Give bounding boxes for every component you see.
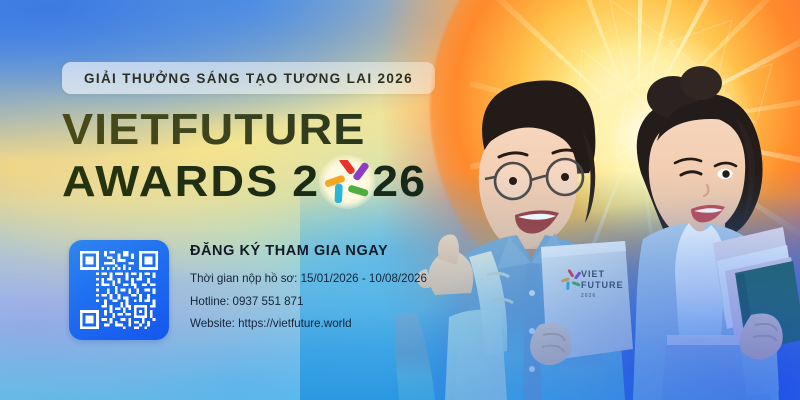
banner-content: GIẢI THƯỞNG SÁNG TẠO TƯƠNG LAI 2026 VIET…: [0, 0, 430, 400]
title-year-prefix: 2: [282, 160, 320, 204]
cta-heading: ĐĂNG KÝ THAM GIA NGAY: [190, 243, 430, 259]
kicker-badge: GIẢI THƯỞNG SÁNG TẠO TƯƠNG LAI 2026: [62, 62, 435, 94]
title-line-awards: AWARDS 2 26: [62, 160, 426, 204]
kicker-text: GIẢI THƯỞNG SÁNG TẠO TƯƠNG LAI 2026: [84, 71, 413, 86]
title-awards-word: AWARDS: [62, 160, 279, 204]
detail-submission-period: Thời gian nộp hồ sơ: 15/01/2026 - 10/08/…: [190, 273, 430, 285]
title-block: VIETFUTURE AWARDS 2 26: [62, 108, 406, 204]
title-line-vietfuture: VIETFUTURE: [62, 108, 426, 152]
vietfuture-pinwheel-logo: [322, 160, 369, 204]
vietfuture-awards-banner: VIET FUTURE 2026 GIẢI THƯỞNG SÁNG TẠO TƯ…: [0, 0, 800, 400]
detail-website: Website: https://vietfuture.world: [190, 318, 430, 330]
qr-code-image: [80, 251, 158, 329]
detail-hotline: Hotline: 0937 551 871: [190, 296, 430, 308]
registration-details: ĐĂNG KÝ THAM GIA NGAY Thời gian nộp hồ s…: [190, 243, 430, 330]
title-year-suffix: 26: [372, 160, 426, 204]
qr-code-registration[interactable]: [69, 240, 169, 340]
